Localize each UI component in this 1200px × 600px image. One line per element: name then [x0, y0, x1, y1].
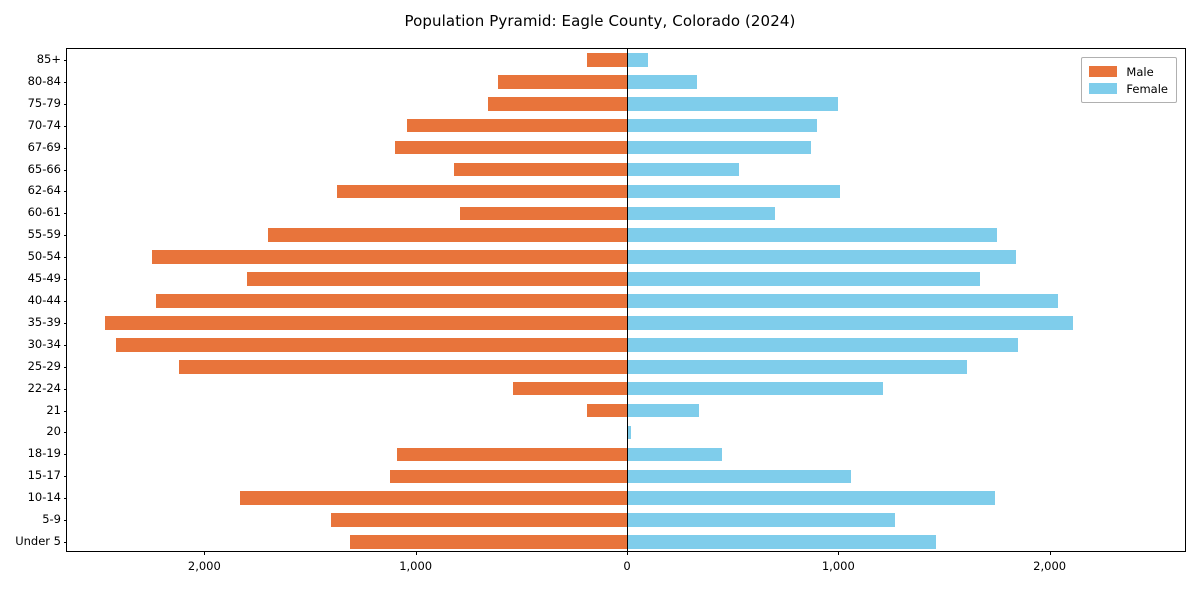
x-tick-mark: [838, 551, 839, 555]
bar-row: [67, 360, 1185, 374]
y-tick-mark: [64, 191, 68, 192]
y-tick-label-30-34: 30-34: [5, 339, 61, 351]
x-tick-mark: [204, 551, 205, 555]
bar-row: [67, 228, 1185, 242]
y-tick-label-25-29: 25-29: [5, 361, 61, 373]
bar-male: [337, 185, 627, 199]
y-tick-label-under-5: Under 5: [5, 536, 61, 548]
bar-female: [627, 360, 967, 374]
y-tick-mark: [64, 60, 68, 61]
y-tick-label-35-39: 35-39: [5, 317, 61, 329]
bar-row: [67, 272, 1185, 286]
y-tick-mark: [64, 126, 68, 127]
y-tick-mark: [64, 323, 68, 324]
y-tick-label-21: 21: [5, 405, 61, 417]
y-tick-mark: [64, 411, 68, 412]
x-tick-label-4: 2,000: [1033, 561, 1066, 573]
y-tick-mark: [64, 454, 68, 455]
bar-male: [513, 382, 627, 396]
y-tick-mark: [64, 389, 68, 390]
legend-label-female: Female: [1126, 82, 1168, 96]
y-tick-label-55-59: 55-59: [5, 229, 61, 241]
bar-female: [627, 272, 980, 286]
bar-row: [67, 97, 1185, 111]
bar-row: [67, 404, 1185, 418]
y-tick-mark: [64, 345, 68, 346]
bars-layer: [67, 49, 1185, 551]
bar-female: [627, 207, 775, 221]
bar-row: [67, 141, 1185, 155]
zero-axis-line: [627, 49, 628, 551]
bar-row: [67, 513, 1185, 527]
bar-male: [498, 75, 627, 89]
bar-row: [67, 75, 1185, 89]
bar-male: [105, 316, 627, 330]
bar-female: [627, 250, 1016, 264]
bar-male: [247, 272, 627, 286]
bar-male: [454, 163, 627, 177]
bar-row: [67, 53, 1185, 67]
legend-item-female[interactable]: Female: [1089, 80, 1168, 97]
y-tick-mark: [64, 520, 68, 521]
bar-row: [67, 119, 1185, 133]
bar-male: [116, 338, 627, 352]
bar-female: [627, 163, 739, 177]
y-tick-mark: [64, 148, 68, 149]
bar-female: [627, 185, 840, 199]
y-tick-mark: [64, 476, 68, 477]
legend-swatch-female: [1089, 83, 1117, 94]
y-tick-mark: [64, 257, 68, 258]
plot-area: 85+80-8475-7970-7467-6965-6662-6460-6155…: [66, 48, 1186, 552]
y-tick-label-60-61: 60-61: [5, 207, 61, 219]
bar-female: [627, 513, 895, 527]
bar-male: [390, 470, 627, 484]
y-tick-label-65-66: 65-66: [5, 164, 61, 176]
bar-female: [627, 97, 838, 111]
bar-male: [268, 228, 627, 242]
y-tick-mark: [64, 498, 68, 499]
bar-male: [407, 119, 627, 133]
y-tick-label-18-19: 18-19: [5, 448, 61, 460]
bar-row: [67, 535, 1185, 549]
bar-row: [67, 426, 1185, 440]
y-tick-mark: [64, 170, 68, 171]
bar-male: [395, 141, 627, 155]
bar-row: [67, 207, 1185, 221]
bar-male: [240, 491, 627, 505]
y-tick-label-45-49: 45-49: [5, 273, 61, 285]
bar-row: [67, 470, 1185, 484]
y-tick-mark: [64, 104, 68, 105]
x-tick-label-3: 1,000: [822, 561, 855, 573]
y-tick-label-67-69: 67-69: [5, 142, 61, 154]
bar-female: [627, 470, 851, 484]
y-tick-label-15-17: 15-17: [5, 470, 61, 482]
y-tick-label-40-44: 40-44: [5, 295, 61, 307]
bar-male: [179, 360, 627, 374]
bar-row: [67, 250, 1185, 264]
y-tick-mark: [64, 213, 68, 214]
y-tick-mark: [64, 367, 68, 368]
bar-row: [67, 294, 1185, 308]
y-tick-label-5-9: 5-9: [5, 514, 61, 526]
x-tick-mark: [416, 551, 417, 555]
bar-female: [627, 316, 1073, 330]
y-tick-label-75-79: 75-79: [5, 98, 61, 110]
x-tick-mark: [627, 551, 628, 555]
y-tick-mark: [64, 82, 68, 83]
bar-male: [331, 513, 627, 527]
x-tick-label-1: 1,000: [399, 561, 432, 573]
y-tick-mark: [64, 235, 68, 236]
bar-male: [350, 535, 627, 549]
bar-female: [627, 75, 697, 89]
bar-female: [627, 141, 811, 155]
bar-female: [627, 228, 997, 242]
bar-row: [67, 491, 1185, 505]
y-tick-label-80-84: 80-84: [5, 76, 61, 88]
x-tick-mark: [1050, 551, 1051, 555]
y-tick-mark: [64, 279, 68, 280]
y-tick-label-22-24: 22-24: [5, 383, 61, 395]
y-tick-mark: [64, 542, 68, 543]
bar-female: [627, 491, 995, 505]
legend-label-male: Male: [1126, 65, 1153, 79]
bar-male: [397, 448, 627, 462]
y-tick-label-62-64: 62-64: [5, 185, 61, 197]
y-tick-label-85: 85+: [5, 54, 61, 66]
bar-row: [67, 185, 1185, 199]
y-tick-label-70-74: 70-74: [5, 120, 61, 132]
bar-female: [627, 338, 1018, 352]
y-tick-mark: [64, 301, 68, 302]
bar-row: [67, 382, 1185, 396]
bar-female: [627, 119, 817, 133]
y-tick-label-10-14: 10-14: [5, 492, 61, 504]
bar-male: [152, 250, 627, 264]
y-tick-label-50-54: 50-54: [5, 251, 61, 263]
bar-female: [627, 53, 648, 67]
bar-row: [67, 316, 1185, 330]
bar-female: [627, 294, 1058, 308]
legend-swatch-male: [1089, 66, 1117, 77]
bar-female: [627, 448, 722, 462]
bar-male: [488, 97, 627, 111]
page-title: Population Pyramid: Eagle County, Colora…: [0, 12, 1200, 30]
bar-row: [67, 163, 1185, 177]
legend-item-male[interactable]: Male: [1089, 63, 1168, 80]
bar-female: [627, 382, 883, 396]
x-tick-label-0: 2,000: [188, 561, 221, 573]
x-tick-label-2: 0: [623, 561, 630, 573]
y-tick-label-20: 20: [5, 426, 61, 438]
bar-row: [67, 448, 1185, 462]
figure: Population Pyramid: Eagle County, Colora…: [0, 0, 1200, 600]
bar-female: [627, 535, 936, 549]
bar-male: [460, 207, 627, 221]
bar-male: [587, 404, 627, 418]
bar-male: [156, 294, 627, 308]
y-tick-mark: [64, 432, 68, 433]
legend[interactable]: MaleFemale: [1081, 57, 1177, 103]
bar-male: [587, 53, 627, 67]
bar-female: [627, 404, 699, 418]
bar-row: [67, 338, 1185, 352]
